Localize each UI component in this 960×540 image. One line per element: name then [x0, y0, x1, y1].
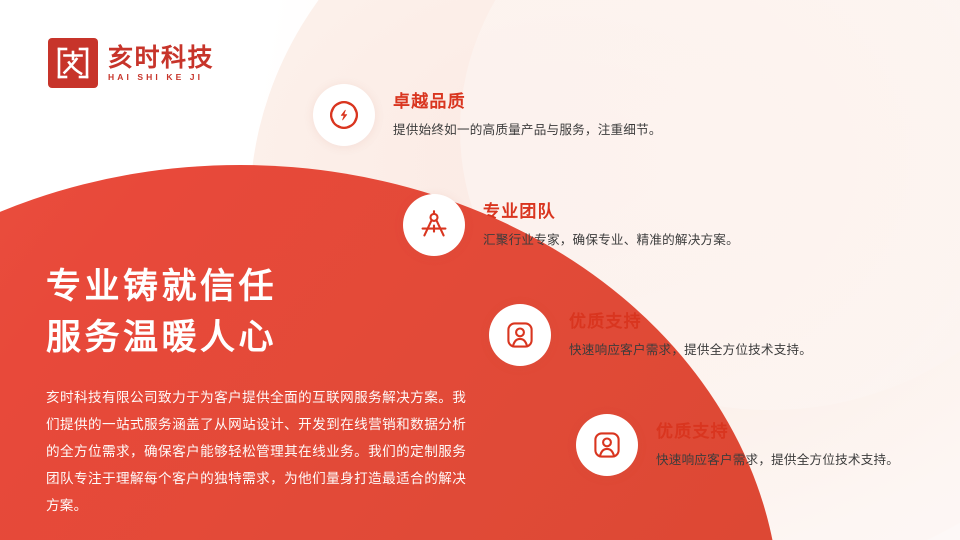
feature-text: 专业团队 汇聚行业专家，确保专业、精准的解决方案。	[483, 200, 739, 249]
feature-title: 优质支持	[656, 422, 899, 442]
atom-bolt-icon	[327, 98, 361, 132]
feature-icon-badge	[489, 304, 551, 366]
brand-name-pinyin: HAI SHI KE JI	[108, 73, 214, 82]
feature-item-quality-support[interactable]: 优质支持 快速响应客户需求，提供全方位技术支持。	[489, 304, 812, 366]
seal-script-hai-icon	[48, 38, 98, 88]
slide-canvas: 亥时科技 HAI SHI KE JI 专业铸就信任 服务温暖人心 亥时科技有限公…	[0, 0, 960, 540]
hero-block: 专业铸就信任 服务温暖人心 亥时科技有限公司致力于为客户提供全面的互联网服务解决…	[46, 262, 476, 519]
feature-description: 快速响应客户需求，提供全方位技术支持。	[656, 452, 899, 470]
hero-description: 亥时科技有限公司致力于为客户提供全面的互联网服务解决方案。我们提供的一站式服务涵…	[46, 384, 466, 520]
feature-icon-badge	[313, 84, 375, 146]
user-card-icon	[503, 318, 537, 352]
feature-item-quality-support-2[interactable]: 优质支持 快速响应客户需求，提供全方位技术支持。	[576, 414, 899, 476]
brand-wordmark: 亥时科技 HAI SHI KE JI	[108, 45, 214, 82]
feature-title: 优质支持	[569, 312, 812, 332]
feature-text: 卓越品质 提供始终如一的高质量产品与服务，注重细节。	[393, 90, 662, 139]
feature-title: 专业团队	[483, 202, 739, 222]
feature-title: 卓越品质	[393, 92, 662, 112]
user-card-icon	[590, 428, 624, 462]
feature-icon-badge	[403, 194, 465, 256]
feature-icon-badge	[576, 414, 638, 476]
feature-description: 汇聚行业专家，确保专业、精准的解决方案。	[483, 232, 739, 250]
compass-divider-icon	[417, 208, 451, 242]
feature-text: 优质支持 快速响应客户需求，提供全方位技术支持。	[569, 310, 812, 359]
hero-title-line-1: 专业铸就信任	[46, 262, 476, 313]
brand-name-cn: 亥时科技	[108, 45, 214, 71]
feature-item-professional-team[interactable]: 专业团队 汇聚行业专家，确保专业、精准的解决方案。	[403, 194, 739, 256]
feature-text: 优质支持 快速响应客户需求，提供全方位技术支持。	[656, 420, 899, 469]
feature-description: 快速响应客户需求，提供全方位技术支持。	[569, 342, 812, 360]
brand-logo[interactable]: 亥时科技 HAI SHI KE JI	[48, 38, 214, 88]
feature-description: 提供始终如一的高质量产品与服务，注重细节。	[393, 122, 662, 140]
hero-title-line-2: 服务温暖人心	[46, 313, 476, 364]
feature-item-excellent-quality[interactable]: 卓越品质 提供始终如一的高质量产品与服务，注重细节。	[313, 84, 662, 146]
